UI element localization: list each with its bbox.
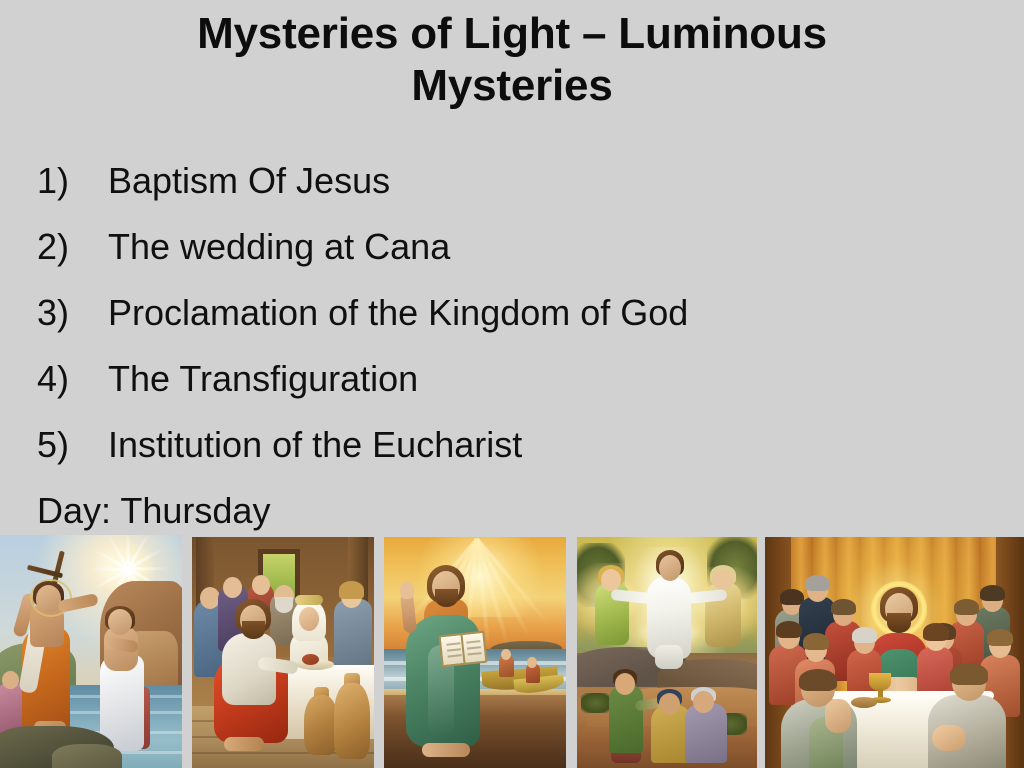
list-item: 3) Proclamation of the Kingdom of God [0, 280, 1024, 346]
presentation-slide: Mysteries of Light – Luminous Mysteries … [0, 0, 1024, 768]
list-item: 5) Institution of the Eucharist [0, 412, 1024, 478]
list-item-label: Proclamation of the Kingdom of God [108, 280, 688, 346]
list-item: 2) The wedding at Cana [0, 214, 1024, 280]
list-item-number: 3) [37, 280, 97, 346]
page-title: Mysteries of Light – Luminous Mysteries [40, 8, 984, 112]
list-item: 1) Baptism Of Jesus [0, 148, 1024, 214]
list-item: 4) The Transfiguration [0, 346, 1024, 412]
mysteries-list: 1) Baptism Of Jesus 2) The wedding at Ca… [0, 148, 1024, 544]
picture-the-transfiguration [577, 537, 757, 768]
picture-strip [0, 530, 1024, 768]
list-item-label: The wedding at Cana [108, 214, 450, 280]
list-item-label: The Transfiguration [108, 346, 418, 412]
title-line-1: Mysteries of Light – Luminous [40, 8, 984, 60]
picture-baptism-of-jesus [0, 535, 182, 768]
picture-proclamation-of-the-kingdom [384, 537, 566, 768]
list-item-label: Baptism Of Jesus [108, 148, 390, 214]
list-item-number: 2) [37, 214, 97, 280]
picture-wedding-at-cana [192, 537, 374, 768]
picture-institution-of-the-eucharist [765, 537, 1024, 768]
list-item-number: 1) [37, 148, 97, 214]
list-item-label: Institution of the Eucharist [108, 412, 522, 478]
list-item-number: 4) [37, 346, 97, 412]
title-line-2: Mysteries [40, 60, 984, 112]
list-item-number: 5) [37, 412, 97, 478]
